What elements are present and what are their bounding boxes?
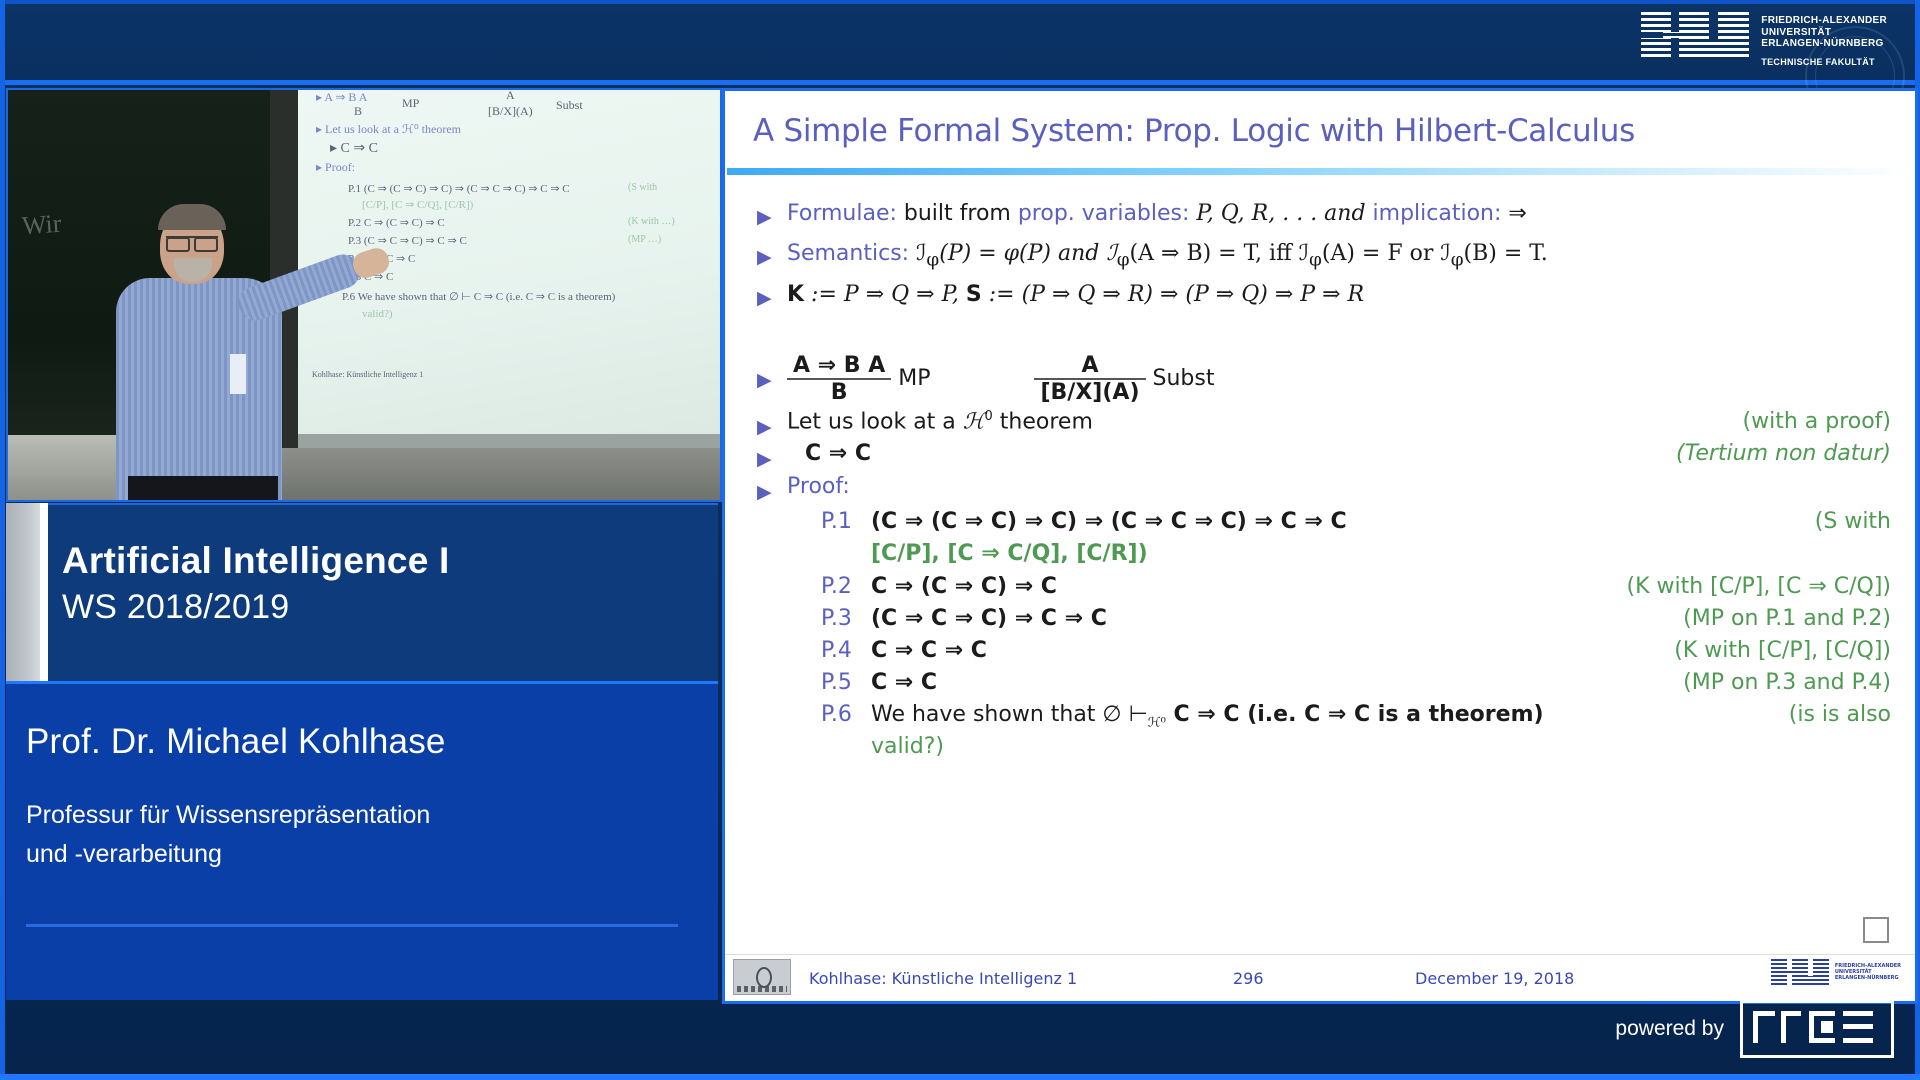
footer-page-number: 296 bbox=[1233, 969, 1264, 988]
rrze-logo-icon bbox=[1740, 1000, 1894, 1058]
qed-box-icon bbox=[1863, 917, 1889, 943]
footer-fau-logo: FRIEDRICH-ALEXANDER UNIVERSITÄT ERLANGEN… bbox=[1771, 959, 1901, 985]
proof-step-note: (S with bbox=[1815, 509, 1891, 534]
proof-step-formula: (C ⇒ (C ⇒ C) ⇒ C) ⇒ (C ⇒ C ⇒ C) ⇒ C ⇒ C bbox=[871, 509, 1347, 534]
frame-left bbox=[0, 0, 5, 1080]
inference-rules-row: A ⇒ B A B MP A [B/X](A) Subst bbox=[787, 353, 1214, 405]
proof-step-formula-cont: [C/P], [C ⇒ C/Q], [C/R]) bbox=[871, 541, 1148, 566]
proof-step-id: P.3 bbox=[821, 606, 852, 631]
fau-logo: FRIEDRICH-ALEXANDER UNIVERSITÄT ERLANGEN… bbox=[1641, 12, 1887, 74]
fau-faculty: TECHNISCHE FAKULTÄT bbox=[1761, 57, 1887, 69]
semantics-body2: (P) = φ(P) and ℐ bbox=[939, 241, 1116, 266]
bullet-formulae: Formulae: built from prop. variables: P,… bbox=[787, 201, 1527, 226]
formulae-arrow: ⇒ bbox=[1501, 201, 1526, 226]
presenter-name: Prof. Dr. Michael Kohlhase bbox=[26, 722, 446, 762]
mp-denominator: B bbox=[787, 378, 891, 405]
conclusion-calculus-sub: ℋ⁰ bbox=[1148, 715, 1166, 730]
frame-bottom bbox=[0, 1074, 1920, 1080]
note-tertium-non-datur: (Tertium non datur) bbox=[1676, 441, 1891, 466]
formulae-mid: built from bbox=[897, 201, 1018, 226]
axiom-s-definition: := (P ⇒ Q ⇒ R) ⇒ (P ⇒ Q) ⇒ P ⇒ R bbox=[982, 282, 1364, 307]
semantics-sub: φ bbox=[926, 249, 939, 270]
fau-mark-icon bbox=[1771, 959, 1829, 985]
proof-step-id: P.6 bbox=[821, 702, 852, 727]
screen-frame bbox=[298, 434, 720, 448]
mp-label: MP bbox=[898, 366, 930, 391]
powered-by-block: powered by bbox=[1615, 1000, 1894, 1058]
bullet-marker-icon: ▶ bbox=[757, 287, 772, 309]
lecture-recording-view: FRIEDRICH-ALEXANDER UNIVERSITÄT ERLANGEN… bbox=[0, 0, 1920, 1080]
semantics-body3: (A ⇒ B) = T, iff ℐ bbox=[1130, 241, 1309, 266]
bullet-marker-icon: ▶ bbox=[757, 448, 772, 470]
footer-org-line3: ERLANGEN-NÜRNBERG bbox=[1835, 975, 1901, 981]
semantics-body1: ℐ bbox=[909, 241, 926, 266]
slide-panel[interactable]: A Simple Formal System: Prop. Logic with… bbox=[722, 88, 1918, 1004]
fau-org-line3: ERLANGEN-NÜRNBERG bbox=[1761, 38, 1887, 50]
calligraphic-h-icon: ℋ bbox=[963, 409, 985, 434]
fau-org-line2: UNIVERSITÄT bbox=[1761, 27, 1887, 39]
bullet-axioms: K := P ⇒ Q ⇒ P, S := (P ⇒ Q ⇒ R) ⇒ (P ⇒ … bbox=[787, 282, 1364, 307]
slide-title-rule bbox=[727, 168, 1911, 175]
lecturer-video-panel[interactable]: Wir ▸ A ⇒ B A B MP A [B/X](A) Subst ▸ Le… bbox=[6, 88, 722, 502]
lookat-tail: theorem bbox=[993, 409, 1093, 434]
formulae-keyword3: implication: bbox=[1373, 201, 1502, 226]
proof-step-formula: C ⇒ C ⇒ C bbox=[871, 638, 987, 663]
fau-mark-icon bbox=[1641, 12, 1749, 58]
semantics-sub: φ bbox=[1117, 249, 1130, 270]
course-title-block: Artificial Intelligence I WS 2018/2019 bbox=[62, 540, 449, 627]
proof-step-id: P.4 bbox=[821, 638, 852, 663]
proof-step-conclusion: We have shown that ∅ ⊢ℋ⁰ C ⇒ C (i.e. C ⇒… bbox=[871, 702, 1544, 730]
formulae-keyword: Formulae: bbox=[787, 201, 897, 226]
conclusion-tail: C ⇒ C (i.e. C ⇒ C is a theorem) bbox=[1166, 702, 1544, 727]
lecturer-badge bbox=[230, 354, 246, 394]
lecturer-legs bbox=[128, 476, 278, 502]
axiom-k-definition: := P ⇒ Q ⇒ P, bbox=[804, 282, 966, 307]
proof-step-id: P.2 bbox=[821, 574, 852, 599]
lecturer-glasses bbox=[166, 236, 218, 248]
proof-step-note: (MP on P.1 and P.2) bbox=[1683, 606, 1891, 631]
proof-step-note: (is is also bbox=[1789, 702, 1891, 727]
footer-fau-wordmark: FRIEDRICH-ALEXANDER UNIVERSITÄT ERLANGEN… bbox=[1835, 963, 1901, 981]
slide-title: A Simple Formal System: Prop. Logic with… bbox=[753, 113, 1635, 149]
bullet-marker-icon: ▶ bbox=[757, 206, 772, 228]
presenter-role: Professur für Wissensrepräsentation und … bbox=[26, 796, 430, 874]
bullet-semantics: Semantics: ℐφ(P) = φ(P) and ℐφ(A ⇒ B) = … bbox=[787, 241, 1548, 270]
semantics-body5: (B) = T. bbox=[1464, 241, 1548, 266]
course-term: WS 2018/2019 bbox=[62, 588, 449, 627]
presenter-role-line2: und -verarbeitung bbox=[26, 835, 430, 874]
theorem-statement: C ⇒ C bbox=[805, 441, 871, 466]
formulae-keyword2: prop. variables: bbox=[1018, 201, 1190, 226]
conclusion-text: We have shown that ∅ ⊢ bbox=[871, 702, 1148, 727]
proof-step-note: (K with [C/P], [C ⇒ C/Q]) bbox=[1627, 574, 1891, 599]
presenter-role-line1: Professur für Wissensrepräsentation bbox=[26, 796, 430, 835]
title-panel-white-bar bbox=[40, 503, 48, 681]
course-title: Artificial Intelligence I bbox=[62, 540, 449, 582]
presenter-panel: Prof. Dr. Michael Kohlhase Professur für… bbox=[6, 681, 718, 1000]
slide-footer: Kohlhase: Künstliche Intelligenz 1 296 D… bbox=[725, 954, 1915, 1001]
semantics-sub: φ bbox=[1451, 249, 1464, 270]
proof-step-note: (K with [C/P], [C/Q]) bbox=[1674, 638, 1891, 663]
proof-step-formula: C ⇒ C bbox=[871, 670, 937, 695]
subst-denominator: [B/X](A) bbox=[1034, 378, 1145, 405]
lookat-text: Let us look at a bbox=[787, 409, 963, 434]
footer-date: December 19, 2018 bbox=[1415, 969, 1574, 988]
bullet-marker-icon: ▶ bbox=[757, 246, 772, 268]
mp-rule: A ⇒ B A B bbox=[787, 353, 891, 405]
header-underline bbox=[5, 80, 1915, 85]
fau-wordmark: FRIEDRICH-ALEXANDER UNIVERSITÄT ERLANGEN… bbox=[1761, 12, 1887, 68]
bullet-marker-icon: ▶ bbox=[757, 416, 772, 438]
mp-numerator: A ⇒ B A bbox=[787, 353, 891, 378]
blackboard-writing: Wir bbox=[21, 209, 62, 242]
proof-step-formula: C ⇒ (C ⇒ C) ⇒ C bbox=[871, 574, 1057, 599]
bullet-marker-icon: ▶ bbox=[757, 481, 772, 503]
proof-step-note-cont: valid?) bbox=[871, 734, 944, 759]
projector-icon bbox=[733, 959, 791, 995]
page-header: FRIEDRICH-ALEXANDER UNIVERSITÄT ERLANGEN… bbox=[5, 4, 1915, 82]
powered-by-label: powered by bbox=[1615, 1017, 1724, 1041]
semantics-keyword: Semantics: bbox=[787, 241, 909, 266]
proof-step-formula: (C ⇒ C ⇒ C) ⇒ C ⇒ C bbox=[871, 606, 1107, 631]
formulae-vars: P, Q, R, . . . and bbox=[1189, 201, 1372, 226]
semantics-body4: (A) = F or ℐ bbox=[1322, 241, 1451, 266]
proof-step-id: P.5 bbox=[821, 670, 852, 695]
fau-org-line1: FRIEDRICH-ALEXANDER bbox=[1761, 15, 1887, 27]
subst-rule: A [B/X](A) bbox=[1034, 353, 1145, 405]
room-floor-right bbox=[270, 448, 720, 500]
bullet-marker-icon: ▶ bbox=[757, 369, 772, 391]
proof-step-id: P.1 bbox=[821, 509, 852, 534]
proof-label: Proof: bbox=[787, 474, 850, 499]
subst-numerator: A bbox=[1034, 353, 1145, 378]
axiom-k-name: K bbox=[787, 282, 804, 307]
note-with-a-proof: (with a proof) bbox=[1743, 409, 1892, 434]
title-panel-gray-bar bbox=[6, 503, 40, 681]
presenter-divider bbox=[26, 924, 678, 927]
proof-step-note: (MP on P.3 and P.4) bbox=[1683, 670, 1891, 695]
bullet-lookat: Let us look at a ℋ0 theorem bbox=[787, 409, 1093, 434]
axiom-s-name: S bbox=[966, 282, 982, 307]
footer-author: Kohlhase: Künstliche Intelligenz 1 bbox=[809, 969, 1077, 988]
lookat-superscript: 0 bbox=[985, 409, 993, 424]
semantics-sub: φ bbox=[1309, 249, 1322, 270]
subst-label: Subst bbox=[1153, 366, 1215, 391]
